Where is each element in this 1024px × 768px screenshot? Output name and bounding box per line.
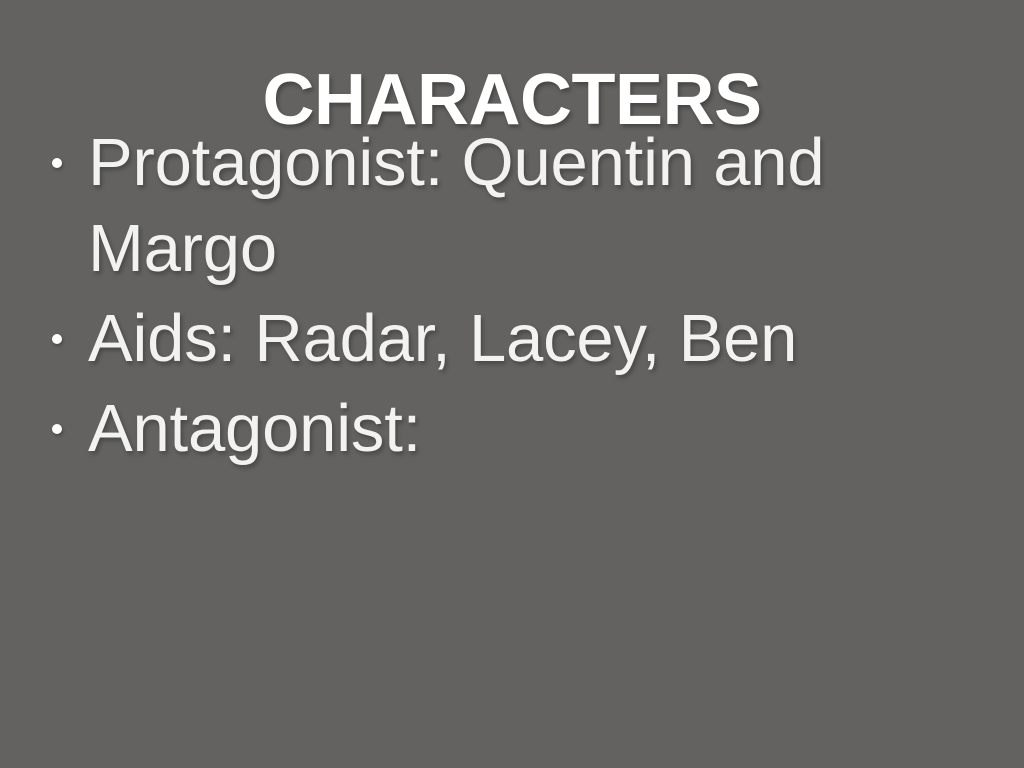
list-item: Protagonist: Quentin and Margo [44,120,944,292]
list-item-label: Protagonist: Quentin and Margo [88,120,944,292]
bullet-dot-icon [52,334,62,344]
bullet-dot-icon [52,424,62,434]
list-item-label: Aids: Radar, Lacey, Ben [88,296,944,382]
list-item: Aids: Radar, Lacey, Ben [44,296,944,382]
bullet-dot-icon [52,158,62,168]
list-item-label: Antagonist: [88,386,944,472]
presentation-slide: CHARACTERS Protagonist: Quentin and Marg… [0,0,1024,768]
list-item: Antagonist: [44,386,944,472]
bullet-list: Protagonist: Quentin and Margo Aids: Rad… [44,120,944,476]
